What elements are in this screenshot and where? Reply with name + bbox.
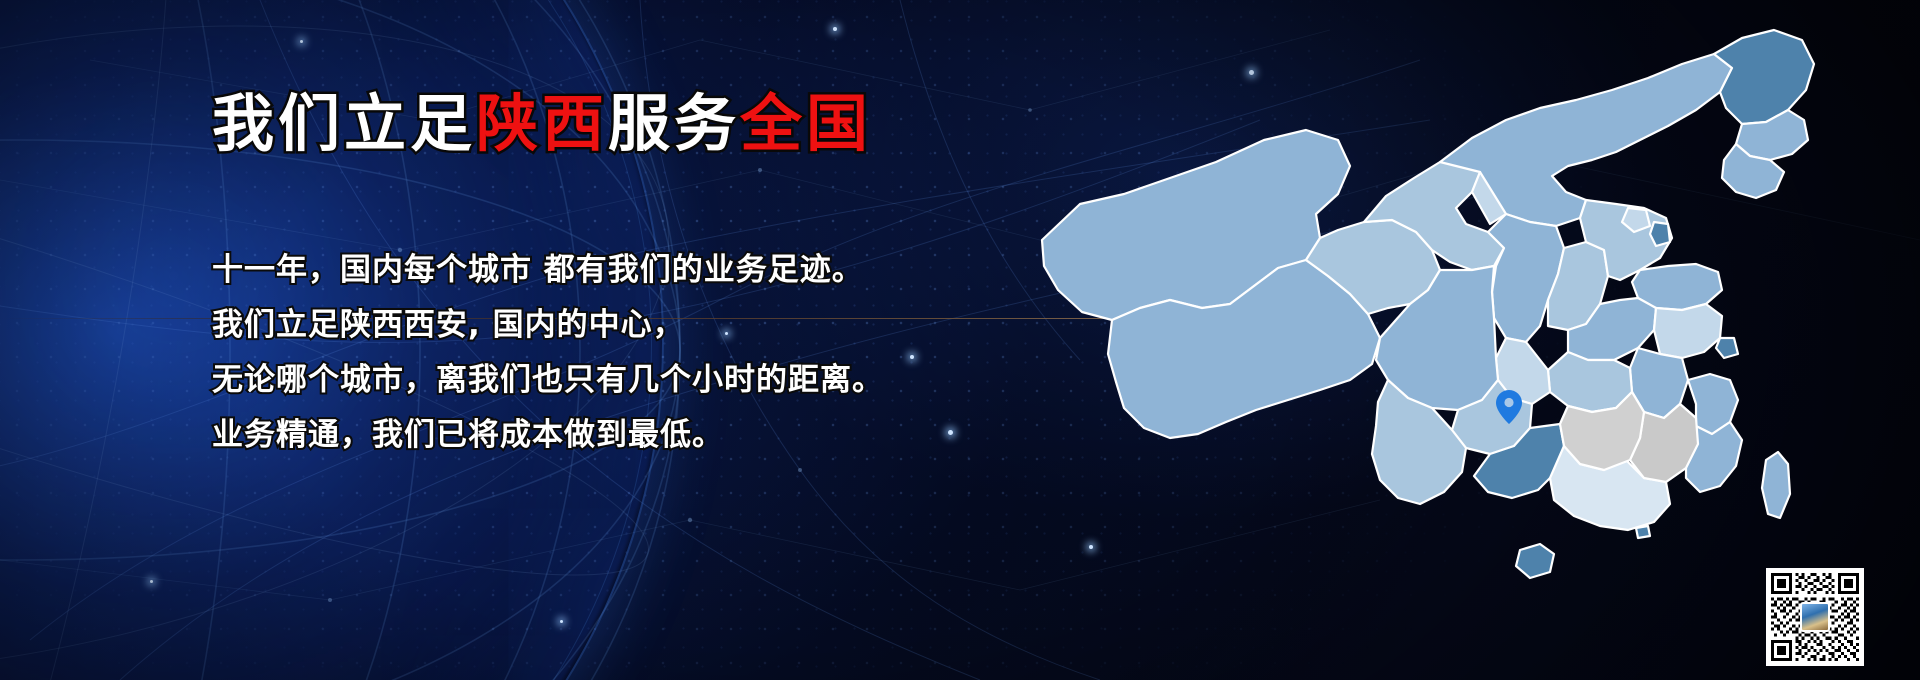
body-line-3: 无论哪个城市，离我们也只有几个小时的距离。 xyxy=(212,353,884,408)
province-hongkong xyxy=(1636,526,1650,538)
province-tianjin xyxy=(1650,222,1670,246)
location-pin-icon[interactable] xyxy=(1496,390,1522,424)
wechat-qr-code[interactable] xyxy=(1766,568,1864,666)
headline-segment-3: 服务 xyxy=(608,87,740,160)
body-line-2: 我们立足陕西西安, 国内的中心， xyxy=(212,298,884,353)
body-line-1: 十一年，国内每个城市 都有我们的业务足迹。 xyxy=(212,243,884,298)
province-taiwan xyxy=(1762,452,1790,518)
body-line-4: 业务精通，我们已将成本做到最低。 xyxy=(212,408,884,463)
promo-banner: 我们立足陕西服务全国 十一年，国内每个城市 都有我们的业务足迹。 我们立足陕西西… xyxy=(0,0,1920,680)
body-copy: 十一年，国内每个城市 都有我们的业务足迹。 我们立足陕西西安, 国内的中心， 无… xyxy=(212,243,884,463)
qr-center-logo xyxy=(1800,602,1830,632)
headline-segment-1: 我们立足 xyxy=(212,87,476,160)
province-shanghai xyxy=(1716,338,1738,358)
headline-segment-4: 全国 xyxy=(740,87,872,160)
page-title: 我们立足陕西服务全国 xyxy=(212,93,872,155)
headline-segment-2: 陕西 xyxy=(476,87,608,160)
province-hainan xyxy=(1516,544,1554,578)
china-map xyxy=(1020,8,1850,668)
province-heilongjiang xyxy=(1714,30,1814,124)
province-jiangsu xyxy=(1654,304,1722,358)
